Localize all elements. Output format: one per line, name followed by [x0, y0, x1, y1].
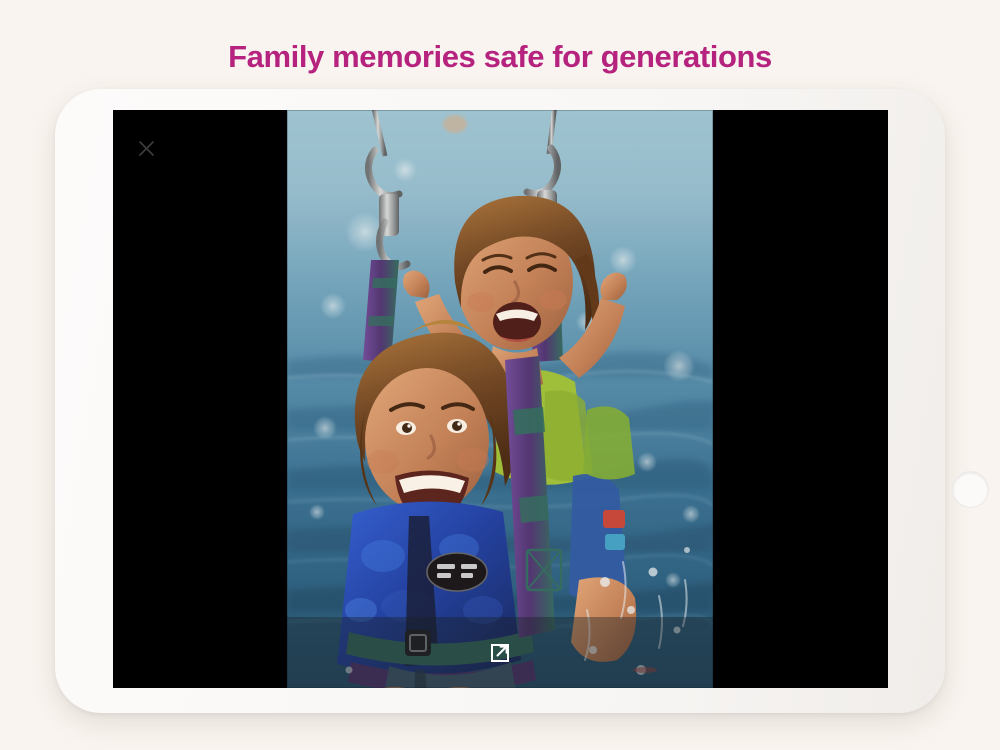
media-viewer-screen [113, 110, 888, 688]
home-button[interactable] [952, 471, 989, 508]
page-title: Family memories safe for generations [0, 36, 1000, 78]
photo-image [287, 110, 713, 688]
photo-stage[interactable] [287, 110, 713, 688]
photo-action-bar [287, 617, 713, 688]
tablet-device [55, 89, 945, 713]
close-icon[interactable] [126, 128, 166, 168]
external-link-icon[interactable] [483, 636, 517, 670]
